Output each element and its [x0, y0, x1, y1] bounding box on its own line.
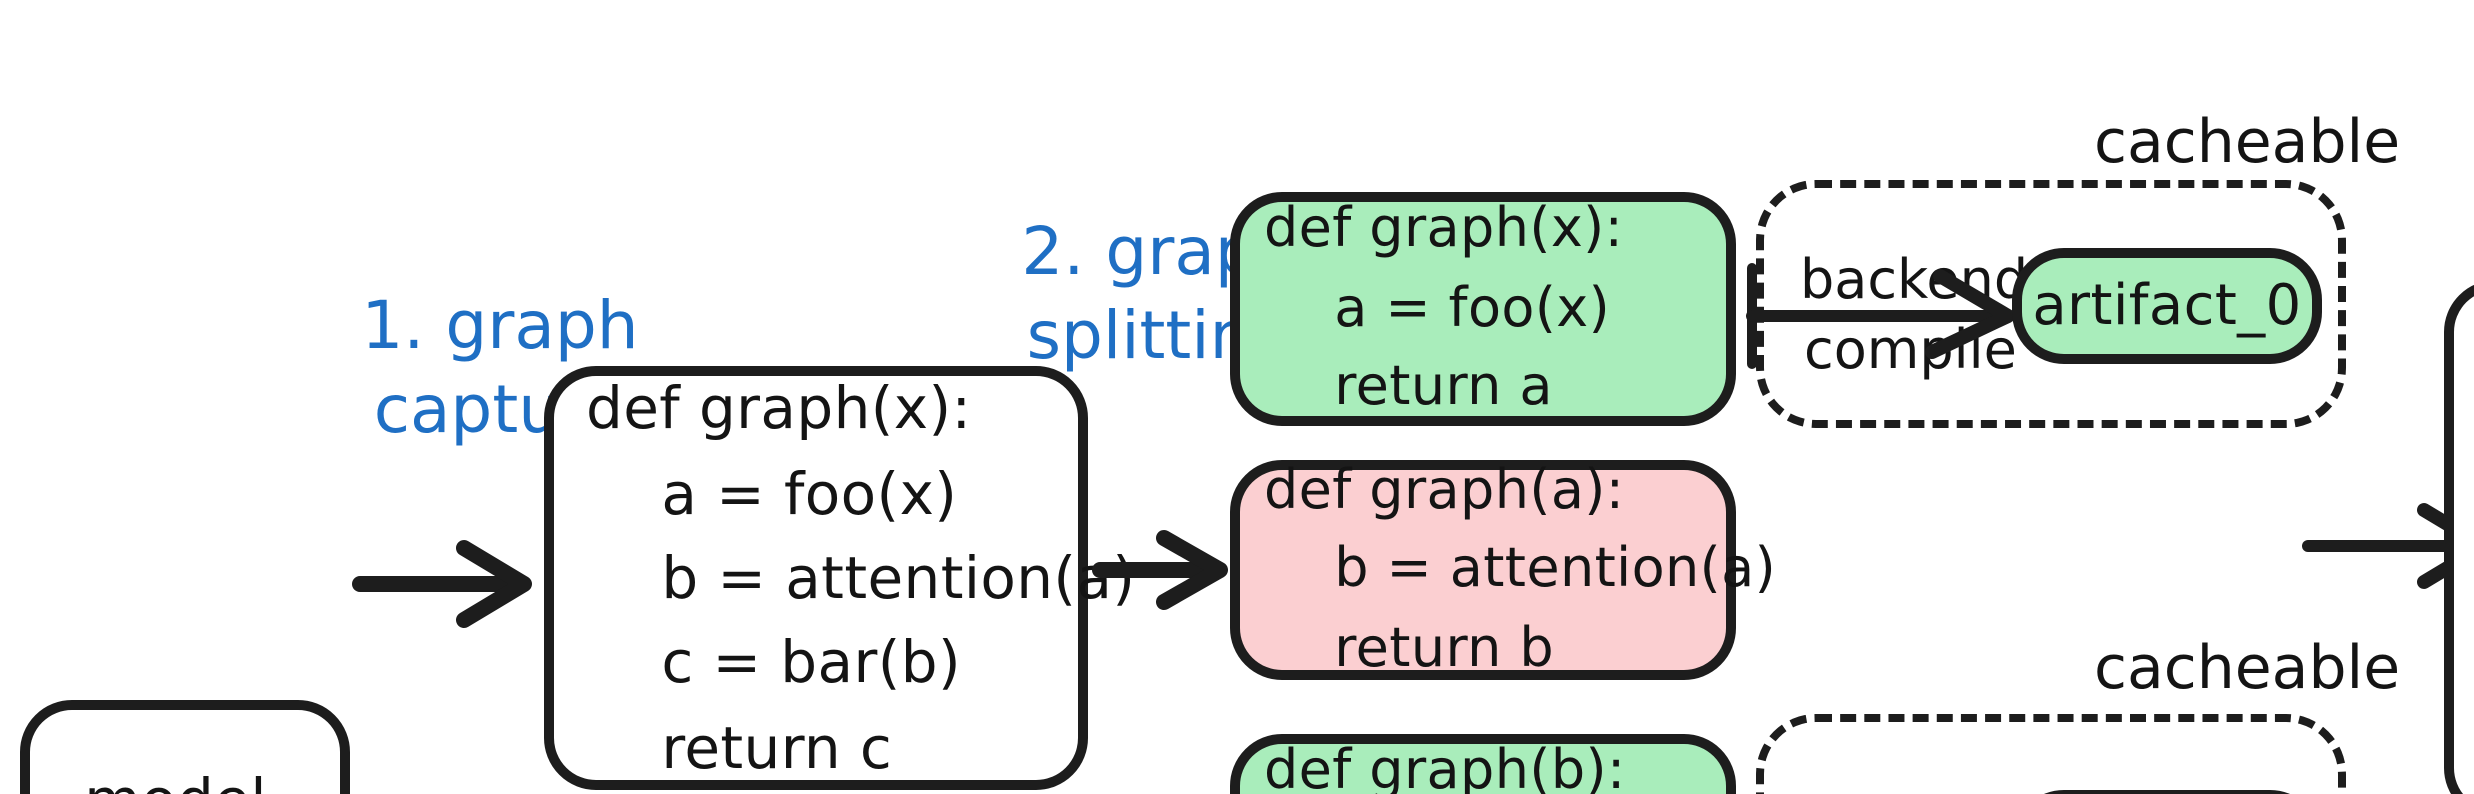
- node-model-example-inputs-text: model, example inputs: [59, 758, 311, 794]
- node-split-graph-bar-text: def graph(b): c = bar(b) return c: [1240, 732, 1726, 794]
- node-model-example-inputs: model, example inputs: [20, 700, 350, 794]
- arrow-backend-compile-0: [1748, 260, 2028, 380]
- cacheable-caption-1: cacheable: [2094, 634, 2400, 706]
- node-runtime-wrapper-body: def run(x): with cuda_graphs(): a = arti…: [2454, 290, 2474, 794]
- node-split-graph-foo-text: def graph(x): a = foo(x) return a: [1240, 191, 1726, 427]
- node-runtime-wrapper: def run(x): with cuda_graphs(): a = arti…: [2444, 280, 2474, 794]
- node-split-graph-attention-text: def graph(a): b = attention(a) return b: [1240, 452, 1726, 688]
- node-split-graph-foo: def graph(x): a = foo(x) return a: [1230, 192, 1736, 426]
- edge-label-backend-1: backend: [1800, 788, 2028, 794]
- node-captured-graph-text: def graph(x): a = foo(x) b = attention(a…: [554, 366, 1078, 789]
- node-split-graph-bar: def graph(b): c = bar(b) return c: [1230, 734, 1736, 794]
- cacheable-group-1: [1756, 714, 2346, 794]
- node-split-graph-attention: def graph(a): b = attention(a) return b: [1230, 460, 1736, 680]
- node-artifact-0: artifact_0: [2012, 248, 2322, 364]
- node-captured-graph: def graph(x): a = foo(x) b = attention(a…: [544, 366, 1088, 790]
- node-artifact-0-label: artifact_0: [2032, 265, 2301, 347]
- node-artifact-1: artifact_1: [2012, 790, 2322, 794]
- arrow-inputs-to-graph: [356, 524, 556, 644]
- cacheable-caption-0: cacheable: [2094, 108, 2400, 180]
- diagram-canvas: 1. graph capture 2. graph splitting 3. I…: [0, 0, 2474, 794]
- step-label-inductor-compile: 3. Inductor compile and custom passes: [2468, 12, 2474, 181]
